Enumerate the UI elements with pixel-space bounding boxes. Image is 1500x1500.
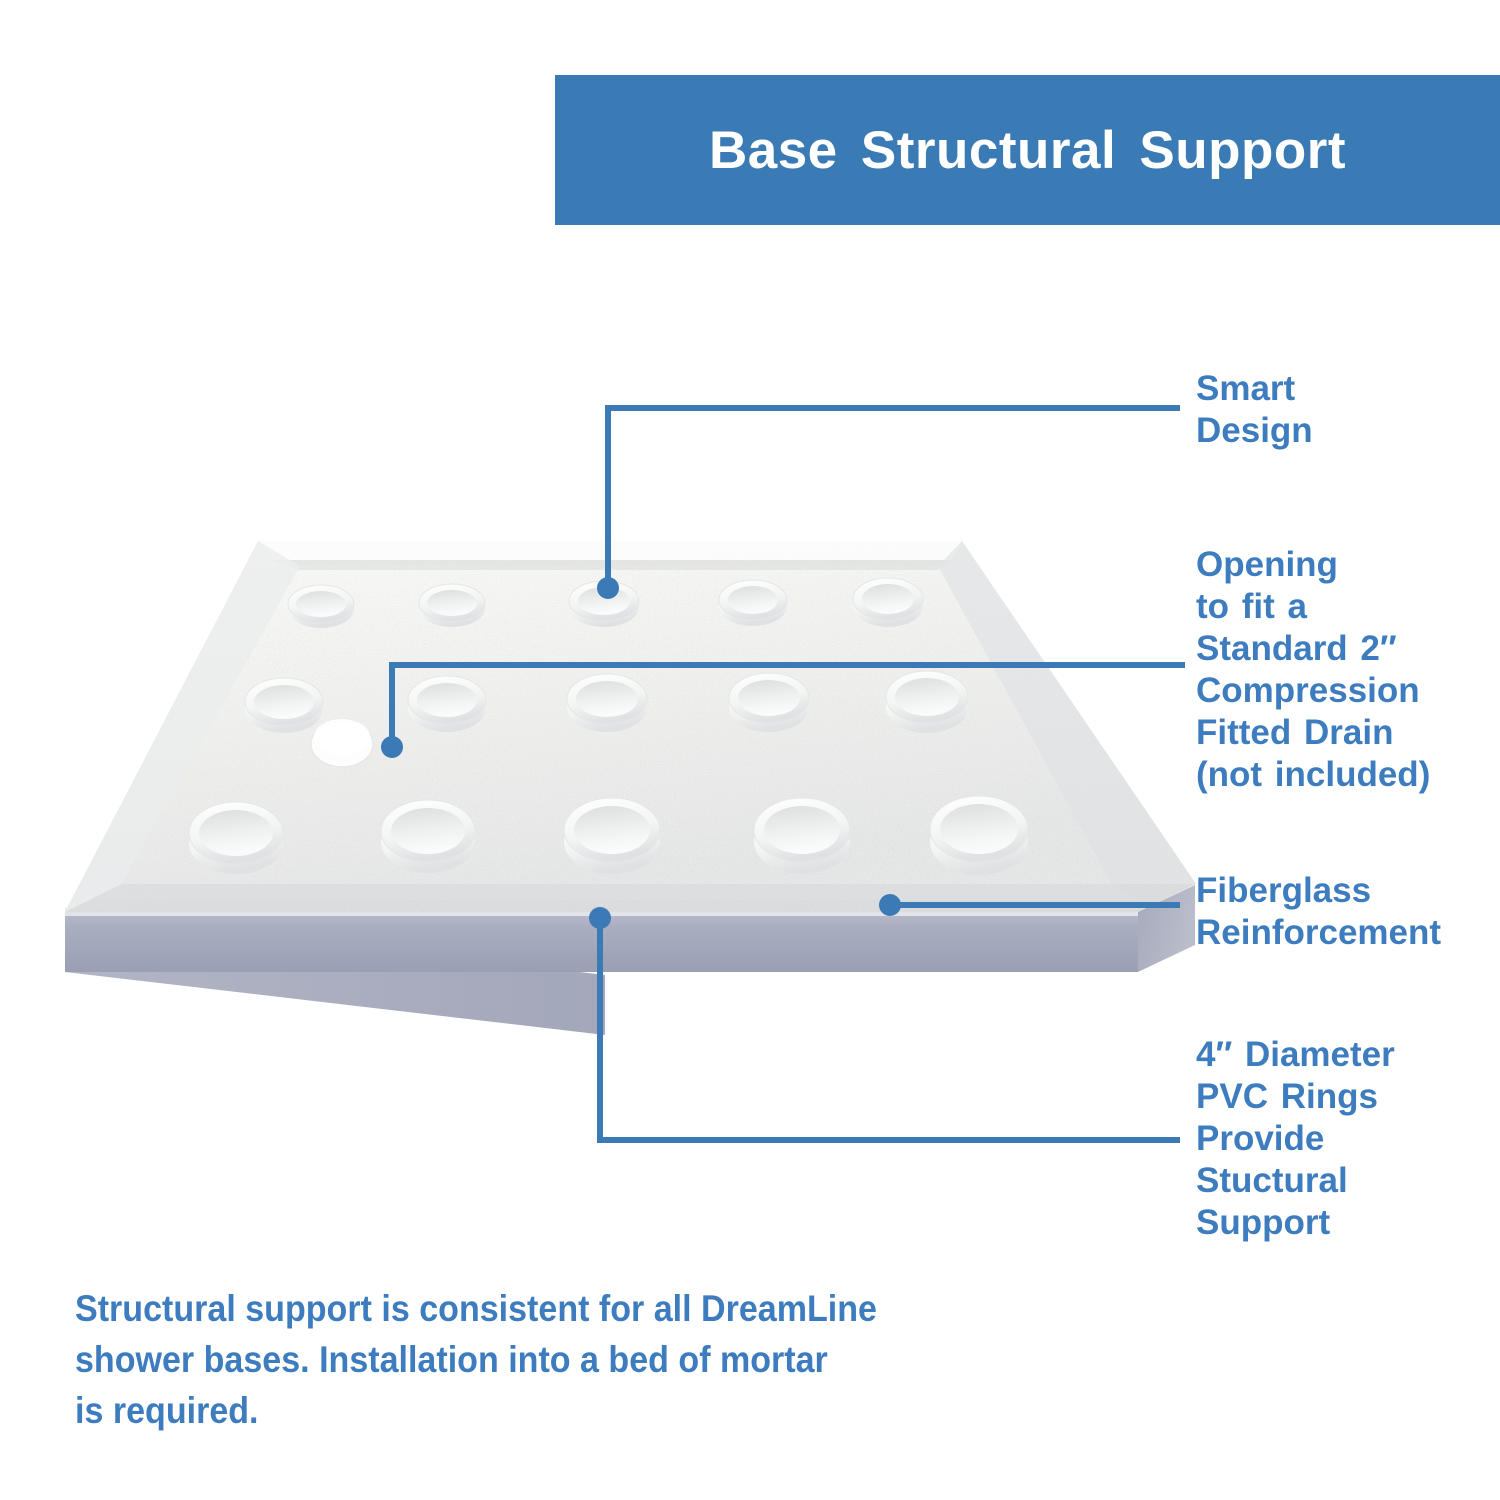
footer-note: Structural support is consistent for all… [75,1283,903,1436]
callout-label-fiberglass-reinforcement: Fiberglass Reinforcement [1196,870,1496,954]
leader-dot-drain-opening [381,736,403,758]
leader-dot-fiberglass [879,894,901,916]
callout-label-smart-design: Smart Design [1196,368,1496,452]
infographic-canvas: Base Structural Support Smart Design Ope… [0,0,1500,1500]
leader-dot-smart-design [597,577,619,599]
leader-dot-pvc-rings [589,907,611,929]
callout-label-drain-opening: Opening to fit a Standard 2″ Compression… [1196,544,1496,796]
header-banner: Base Structural Support [555,75,1500,225]
leader-line-drain-opening [392,665,1185,747]
callout-label-pvc-rings: 4″ Diameter PVC Rings Provide Stuctural … [1196,1034,1496,1244]
leader-line-pvc-rings [600,918,1180,1140]
page-title: Base Structural Support [709,124,1346,177]
leader-line-smart-design [608,408,1180,588]
